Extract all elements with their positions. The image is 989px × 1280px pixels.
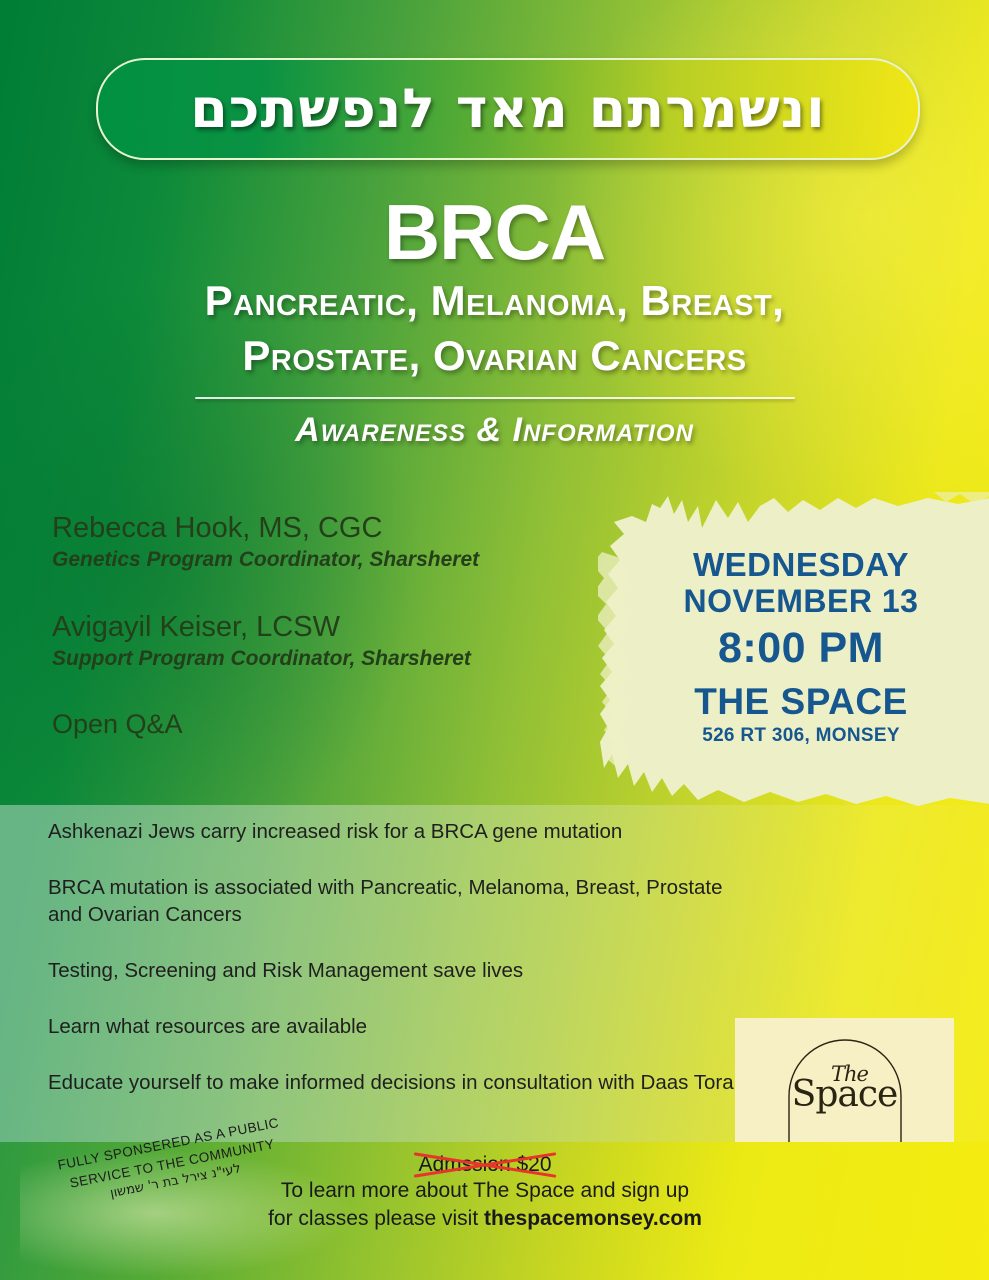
event-address: 526 RT 306, MONSEY bbox=[636, 726, 966, 746]
title-tagline: Awareness & Information bbox=[0, 411, 989, 450]
title-subtitle-line1: Pancreatic, Melanoma, Breast, bbox=[0, 277, 989, 324]
the-space-wordmark: The Space bbox=[781, 1062, 909, 1115]
cta-line-1: To learn more about The Space and sign u… bbox=[255, 1177, 715, 1205]
speaker-role: Genetics Program Coordinator, Sharsheret bbox=[52, 547, 572, 572]
event-date: NOVEMBER 13 bbox=[636, 585, 966, 619]
speaker-item: Rebecca Hook, MS, CGC Genetics Program C… bbox=[52, 512, 572, 573]
logo-script-space: Space bbox=[781, 1074, 909, 1115]
admission-row: Admssion $20 bbox=[255, 1152, 715, 1177]
facts-list: Ashkenazi Jews carry increased risk for … bbox=[48, 818, 754, 1125]
title-subtitle-line2: Prostate, Ovarian Cancers bbox=[0, 332, 989, 379]
arch-logo-icon: The Space bbox=[781, 1034, 909, 1158]
speaker-role: Support Program Coordinator, Sharsheret bbox=[52, 646, 572, 671]
fact-item: Testing, Screening and Risk Management s… bbox=[48, 957, 754, 984]
cta-line-2-prefix: for classes please visit bbox=[268, 1207, 484, 1230]
title-block: BRCA Pancreatic, Melanoma, Breast, Prost… bbox=[0, 195, 989, 450]
fact-item: BRCA mutation is associated with Pancrea… bbox=[48, 874, 754, 928]
admission-struck-through: Admssion $20 bbox=[418, 1152, 551, 1177]
event-details: WEDNESDAY NOVEMBER 13 8:00 PM THE SPACE … bbox=[636, 548, 966, 746]
cta-line-2: for classes please visit thespacemonsey.… bbox=[255, 1205, 715, 1233]
event-venue: THE SPACE bbox=[636, 683, 966, 722]
poster-root: ונשמרתם מאד לנפשתכם BRCA Pancreatic, Mel… bbox=[0, 0, 989, 1280]
fact-item: Learn what resources are available bbox=[48, 1013, 754, 1040]
page-title: BRCA bbox=[0, 195, 989, 269]
fact-item: Ashkenazi Jews carry increased risk for … bbox=[48, 818, 754, 845]
hebrew-banner: ונשמרתם מאד לנפשתכם bbox=[96, 58, 920, 160]
hebrew-banner-text: ונשמרתם מאד לנפשתכם bbox=[190, 82, 825, 136]
speaker-item: Avigayil Keiser, LCSW Support Program Co… bbox=[52, 611, 572, 672]
fact-item: Educate yourself to make informed decisi… bbox=[48, 1069, 754, 1096]
speaker-name: Rebecca Hook, MS, CGC bbox=[52, 512, 572, 545]
website-link[interactable]: thespacemonsey.com bbox=[484, 1207, 702, 1230]
title-divider bbox=[195, 397, 795, 399]
speaker-name: Avigayil Keiser, LCSW bbox=[52, 611, 572, 644]
speakers-section: Rebecca Hook, MS, CGC Genetics Program C… bbox=[52, 512, 572, 740]
cta-section: Admssion $20 To learn more about The Spa… bbox=[255, 1152, 715, 1233]
open-qa-label: Open Q&A bbox=[52, 709, 572, 740]
event-time: 8:00 PM bbox=[636, 626, 966, 671]
event-day: WEDNESDAY bbox=[636, 548, 966, 583]
